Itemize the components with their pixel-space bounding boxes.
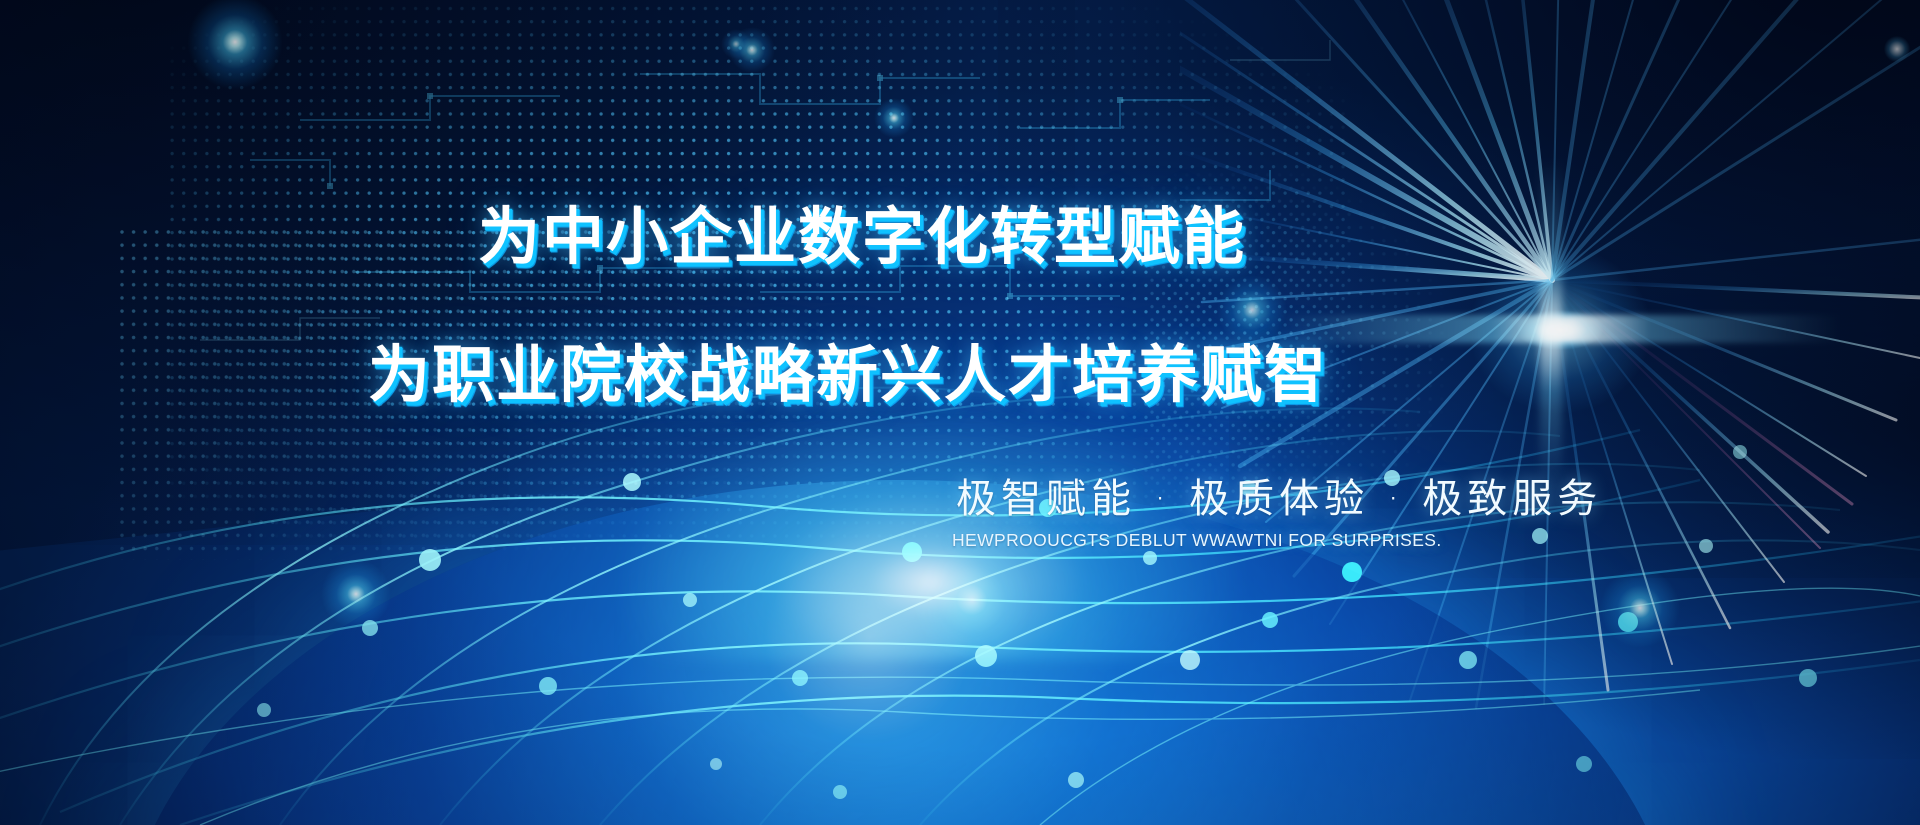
subtitle-slogan: 极智赋能 · 极质体验 · 极致服务 [956,466,1602,524]
banner-stage: 为中小企业数字化转型赋能 为职业院校战略新兴人才培养赋智 极智赋能 · 极质体验… [0,0,1920,825]
headline-primary: 为中小企业数字化转型赋能 [478,186,1246,276]
banner-text-block: 为中小企业数字化转型赋能 为职业院校战略新兴人才培养赋智 极智赋能 · 极质体验… [0,0,1920,825]
english-tagline: HEWPROOUCGTS DEBLUT WWAWTNI FOR SURPRISE… [952,530,1442,551]
headline-secondary: 为职业院校战略新兴人才培养赋智 [368,324,1328,414]
